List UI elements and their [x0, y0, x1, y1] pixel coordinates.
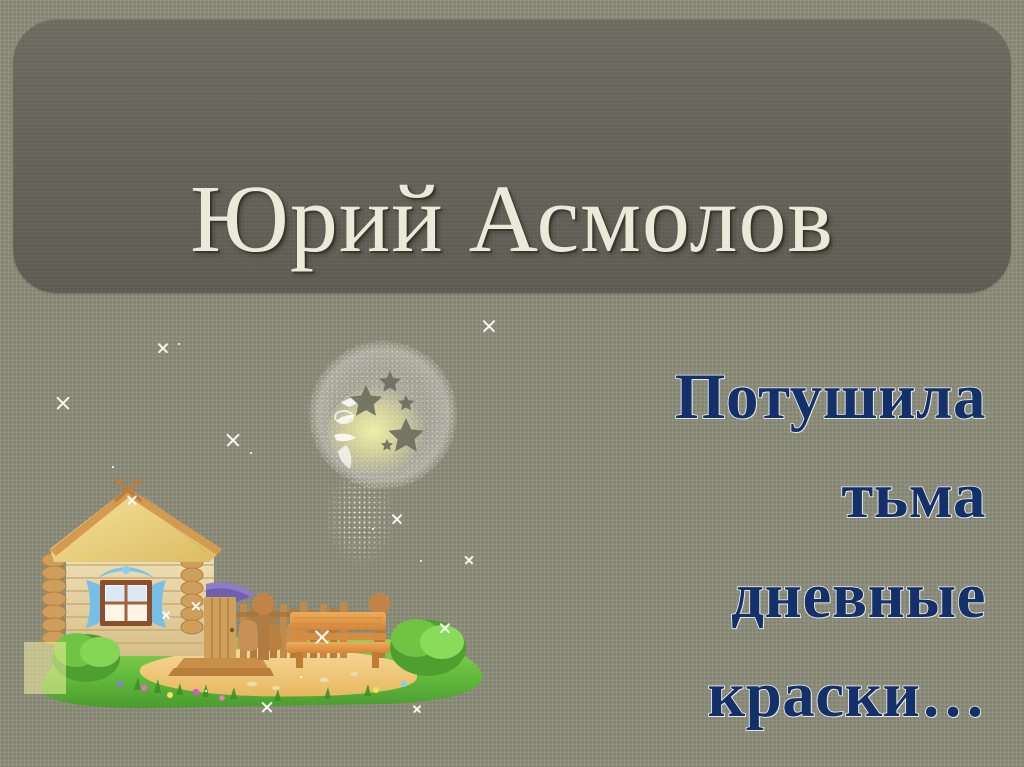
sparkle-dot-icon — [178, 343, 180, 345]
sparkle-dot-icon — [300, 676, 302, 678]
poem-line-3: дневные — [516, 547, 986, 646]
sparkle-dot-icon — [420, 560, 422, 562]
presentation-slide: Юрий Асмолов — [0, 0, 1024, 767]
sparkle-dot-icon — [372, 528, 374, 530]
poem-line-4: краски… — [516, 646, 986, 745]
sparkle-dot-icon — [112, 466, 114, 468]
sparkle-icon — [55, 395, 72, 412]
sparkle-dot-icon — [205, 690, 207, 692]
poem-line-2: тьма — [516, 447, 986, 546]
page-title: Юрий Асмолов — [13, 171, 1011, 267]
poem-text-block: Потушила тьма дневные краски… — [516, 348, 986, 746]
title-panel: Юрий Асмолов — [13, 19, 1011, 293]
log-cabin-illustration — [24, 452, 504, 727]
sparkle-icon — [481, 318, 497, 334]
sparkle-dot-icon — [250, 452, 252, 454]
sparkle-icon — [225, 432, 242, 449]
sparkle-icon — [157, 342, 170, 355]
poem-line-1: Потушила — [516, 348, 986, 447]
